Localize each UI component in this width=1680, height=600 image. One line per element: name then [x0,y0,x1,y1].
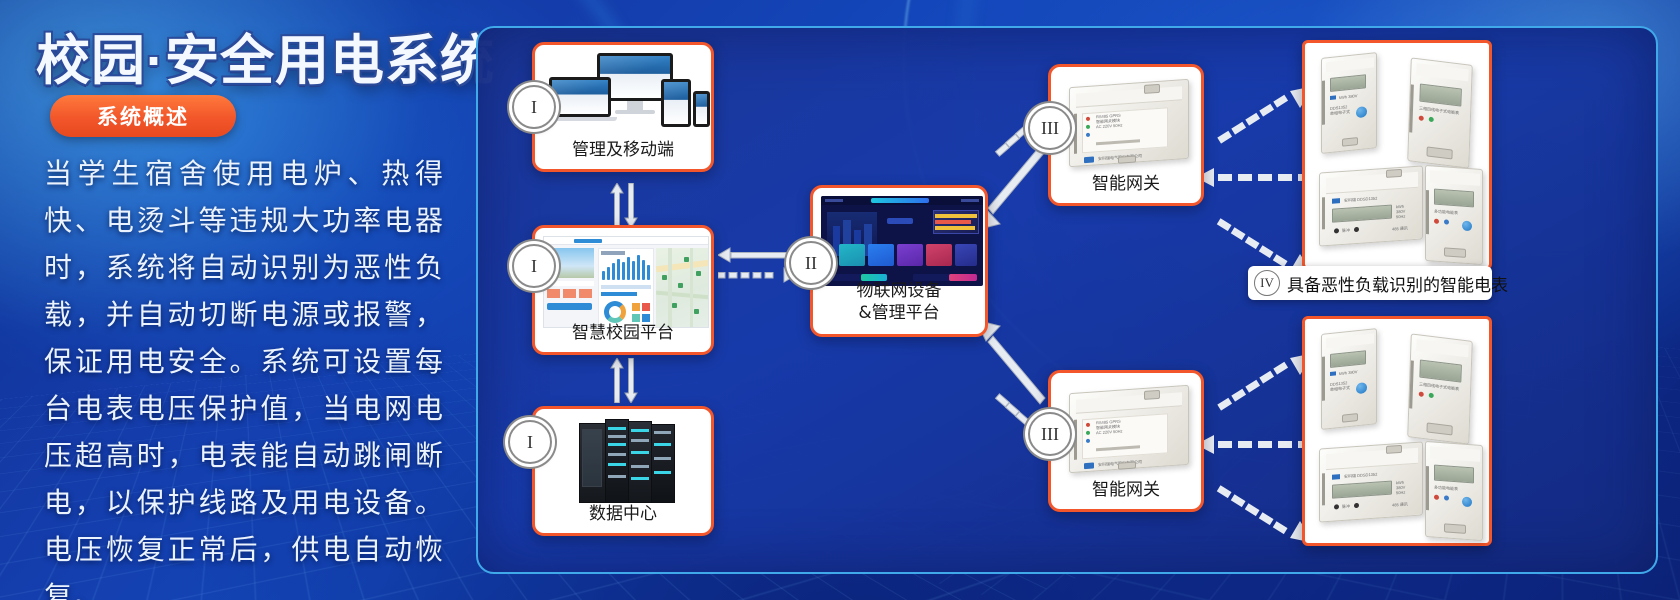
tablet-dashboard-icon [821,196,983,286]
badge-smart-campus: I [512,244,556,288]
node-iot-platform[interactable]: 物联网设备 &管理平台 [810,185,988,337]
node-gateway-bottom[interactable]: RS485 GPRS智能网关模块AC 220V 50Hz 安科瑞电气股份有限公司… [1048,370,1204,512]
meter-panel-top[interactable]: kWh 380V DDS1352单相电子式 三相四线电子式电能表 安科瑞 [1302,40,1492,270]
din-rail-gateway-icon: RS485 GPRS智能网关模块AC 220V 50Hz 安科瑞电气股份有限公司 [1065,381,1193,477]
single-phase-meter: kWh 380V DDS1352单相电子式 [1321,328,1377,430]
connector-gateway-bottom-to-meters [1196,353,1314,543]
badge-gateway-bottom: III [1028,412,1072,456]
din-rail-gateway-icon: RS485 GPRS智能网关模块AC 220V 50Hz 安科瑞电气股份有限公司 [1065,75,1193,171]
badge-iot-platform: II [789,241,833,285]
node-smart-campus-label: 智慧校园平台 [535,322,711,344]
overview-paragraph: 当学生宿舍使用电炉、热得快、电烫斗等违规大功率电器时，系统将自动识别为恶性负载，… [44,150,444,600]
node-smart-campus[interactable]: 智慧校园平台 [532,225,714,355]
node-iot-platform-label: 物联网设备 &管理平台 [813,280,985,324]
node-admin-mobile-label: 管理及移动端 [535,139,711,161]
page-title: 校园·安全用电系统 [36,16,495,95]
node-gateway-top-label: 智能网关 [1051,173,1201,195]
meter-panel-bottom[interactable]: kWh 380V DDS1352单相电子式 三相四线电子式电能表 安科瑞 [1302,316,1492,546]
badge-admin-mobile: I [512,85,556,129]
server-rack-icon [579,419,679,505]
din-meter: 安科瑞 DDSD1352 kWh380V50Hz 脉冲 485 通讯 [1319,165,1423,246]
din-meter: 安科瑞 DDSD1352 kWh380V50Hz 脉冲 485 通讯 [1319,441,1423,522]
node-admin-mobile[interactable]: 管理及移动端 [532,42,714,172]
node-iot-platform-label-line2: &管理平台 [813,302,985,324]
three-phase-meter: 三相四线电子式电能表 [1407,333,1473,444]
node-data-center[interactable]: 数据中心 [532,406,714,536]
meter-group-callout[interactable]: IV 具备恶性负载识别的智能电表 [1248,266,1492,300]
slide-root: 校园·安全用电系统 系统概述 当学生宿舍使用电炉、热得快、电烫斗等违规大功率电器… [0,0,1680,600]
connector-gateway-top-to-meters [1196,86,1314,276]
node-gateway-bottom-label: 智能网关 [1051,479,1201,501]
node-iot-platform-label-line1: 物联网设备 [813,280,985,302]
connector-campus-to-datacenter [609,358,639,403]
connector-admin-to-campus [609,183,639,228]
diagram-panel: 管理及移动端 I [476,26,1658,574]
dashboard-map-icon [543,236,709,328]
section-pill-system-overview: 系统概述 [50,95,236,137]
single-phase-meter: kWh 380V DDS1352单相电子式 [1321,52,1377,154]
three-phase-meter: 三相四线电子式电能表 [1407,57,1473,168]
node-gateway-top[interactable]: RS485 GPRS智能网关模块AC 220V 50Hz 安科瑞电气股份有限公司… [1048,64,1204,206]
left-text-column: 校园·安全用电系统 系统概述 当学生宿舍使用电炉、热得快、电烫斗等违规大功率电器… [0,0,470,600]
section-pill-label: 系统概述 [97,101,189,131]
node-data-center-label: 数据中心 [535,503,711,525]
multi-rate-meter: 多功能电能表 [1425,441,1483,541]
connector-campus-to-iot [718,246,796,286]
multi-rate-meter: 多功能电能表 [1425,165,1483,265]
devices-icon [535,51,717,139]
badge-meter-group: IV [1254,270,1280,296]
meter-group-label-text: 具备恶性负载识别的智能电表 [1287,271,1508,296]
badge-data-center: I [508,420,552,464]
badge-gateway-top: III [1028,106,1072,150]
